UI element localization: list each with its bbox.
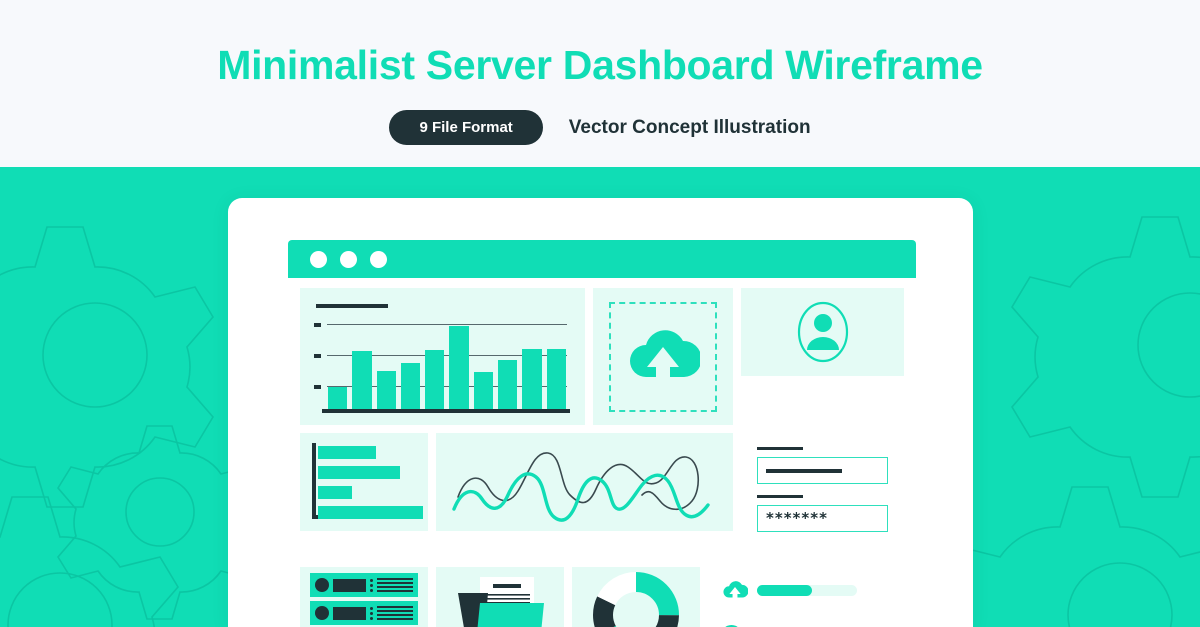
file-format-badge: 9 File Format [389,110,542,145]
bar-chart-tick-2 [314,354,321,358]
hbar-chart-bars [318,446,423,519]
bar-chart-bars [328,323,566,409]
bar-chart-bar[interactable] [352,351,371,409]
bar-chart-bar[interactable] [522,349,541,409]
window-dot-close[interactable] [310,251,327,268]
hbar-chart-bar[interactable] [318,446,376,459]
progress-bar-track[interactable] [757,585,857,596]
bar-chart-bar[interactable] [401,363,420,409]
bar-chart-bar[interactable] [328,387,347,409]
rack-display [333,607,366,620]
dashboard-row-2: ******* [300,433,904,559]
dashboard-panels: ******* [288,278,916,627]
hbar-y-axis [312,443,316,519]
hbar-chart-bar[interactable] [318,506,423,519]
folder-documents-panel[interactable] [436,567,564,627]
rack-led-dots [370,579,373,592]
profile-avatar-panel[interactable] [741,288,904,376]
cloud-upload-icon[interactable] [626,327,700,387]
rack-vent-lines [377,578,413,592]
bar-chart-x-axis [322,409,570,413]
page-title: Minimalist Server Dashboard Wireframe [217,42,983,89]
bar-chart-tick-3 [314,385,321,389]
server-rack-panel[interactable] [300,567,428,627]
upload-progress-panel[interactable] [708,567,871,614]
wave-chart-svg [436,433,733,531]
rack-power-icon [315,606,329,620]
bar-chart-bar[interactable] [449,326,468,409]
username-value [766,469,842,473]
bar-chart-bar[interactable] [425,350,444,409]
rack-power-icon [315,578,329,592]
donut-chart-svg [590,569,682,627]
bar-chart-title-placeholder [316,304,388,308]
cloud-upload-icon [722,580,748,601]
rack-vent-lines [377,606,413,620]
rack-display [333,579,366,592]
hbar-chart-bar[interactable] [318,466,400,479]
bar-chart-bar[interactable] [474,372,493,409]
browser-titlebar [288,240,916,278]
page-header: Minimalist Server Dashboard Wireframe 9 … [0,0,1200,167]
window-dot-minimize[interactable] [340,251,357,268]
server-rack-unit[interactable] [310,573,418,597]
dashboard-row-3: 0 [300,567,904,627]
wave-line-chart-panel[interactable] [436,433,733,531]
laptop-device-frame: ******* [228,198,973,627]
password-label [757,495,803,498]
bar-chart-bar[interactable] [498,360,517,409]
upload-dropzone-panel[interactable] [593,288,733,425]
login-form-panel[interactable]: ******* [741,433,904,559]
user-avatar-icon [796,300,850,364]
dashboard-row-1 [300,288,904,425]
page-subtitle: Vector Concept Illustration [569,117,811,139]
header-subrow: 9 File Format Vector Concept Illustratio… [389,110,810,145]
contact-list-panel[interactable] [708,614,871,627]
folder-icon [436,567,564,627]
window-dot-maximize[interactable] [370,251,387,268]
bar-chart-bar[interactable] [547,349,566,409]
sidebar-column-3: 0 [708,567,871,627]
bar-chart-tick-1 [314,323,321,327]
server-rack-stack [310,573,418,627]
horizontal-bar-chart-panel[interactable] [300,433,428,531]
password-field[interactable]: ******* [757,505,888,532]
rack-led-dots [370,607,373,620]
browser-window: ******* [288,240,916,627]
sidebar-column-2: ******* [741,433,904,559]
hbar-chart-bar[interactable] [318,486,352,499]
progress-bar-fill [757,585,812,596]
bar-chart-bar[interactable] [377,371,396,409]
username-field[interactable] [757,457,888,484]
sidebar-column [741,288,904,425]
server-rack-unit[interactable] [310,601,418,625]
password-value: ******* [766,511,828,526]
donut-chart-panel[interactable] [572,567,700,627]
username-label [757,447,803,450]
bar-chart-panel[interactable] [300,288,585,425]
